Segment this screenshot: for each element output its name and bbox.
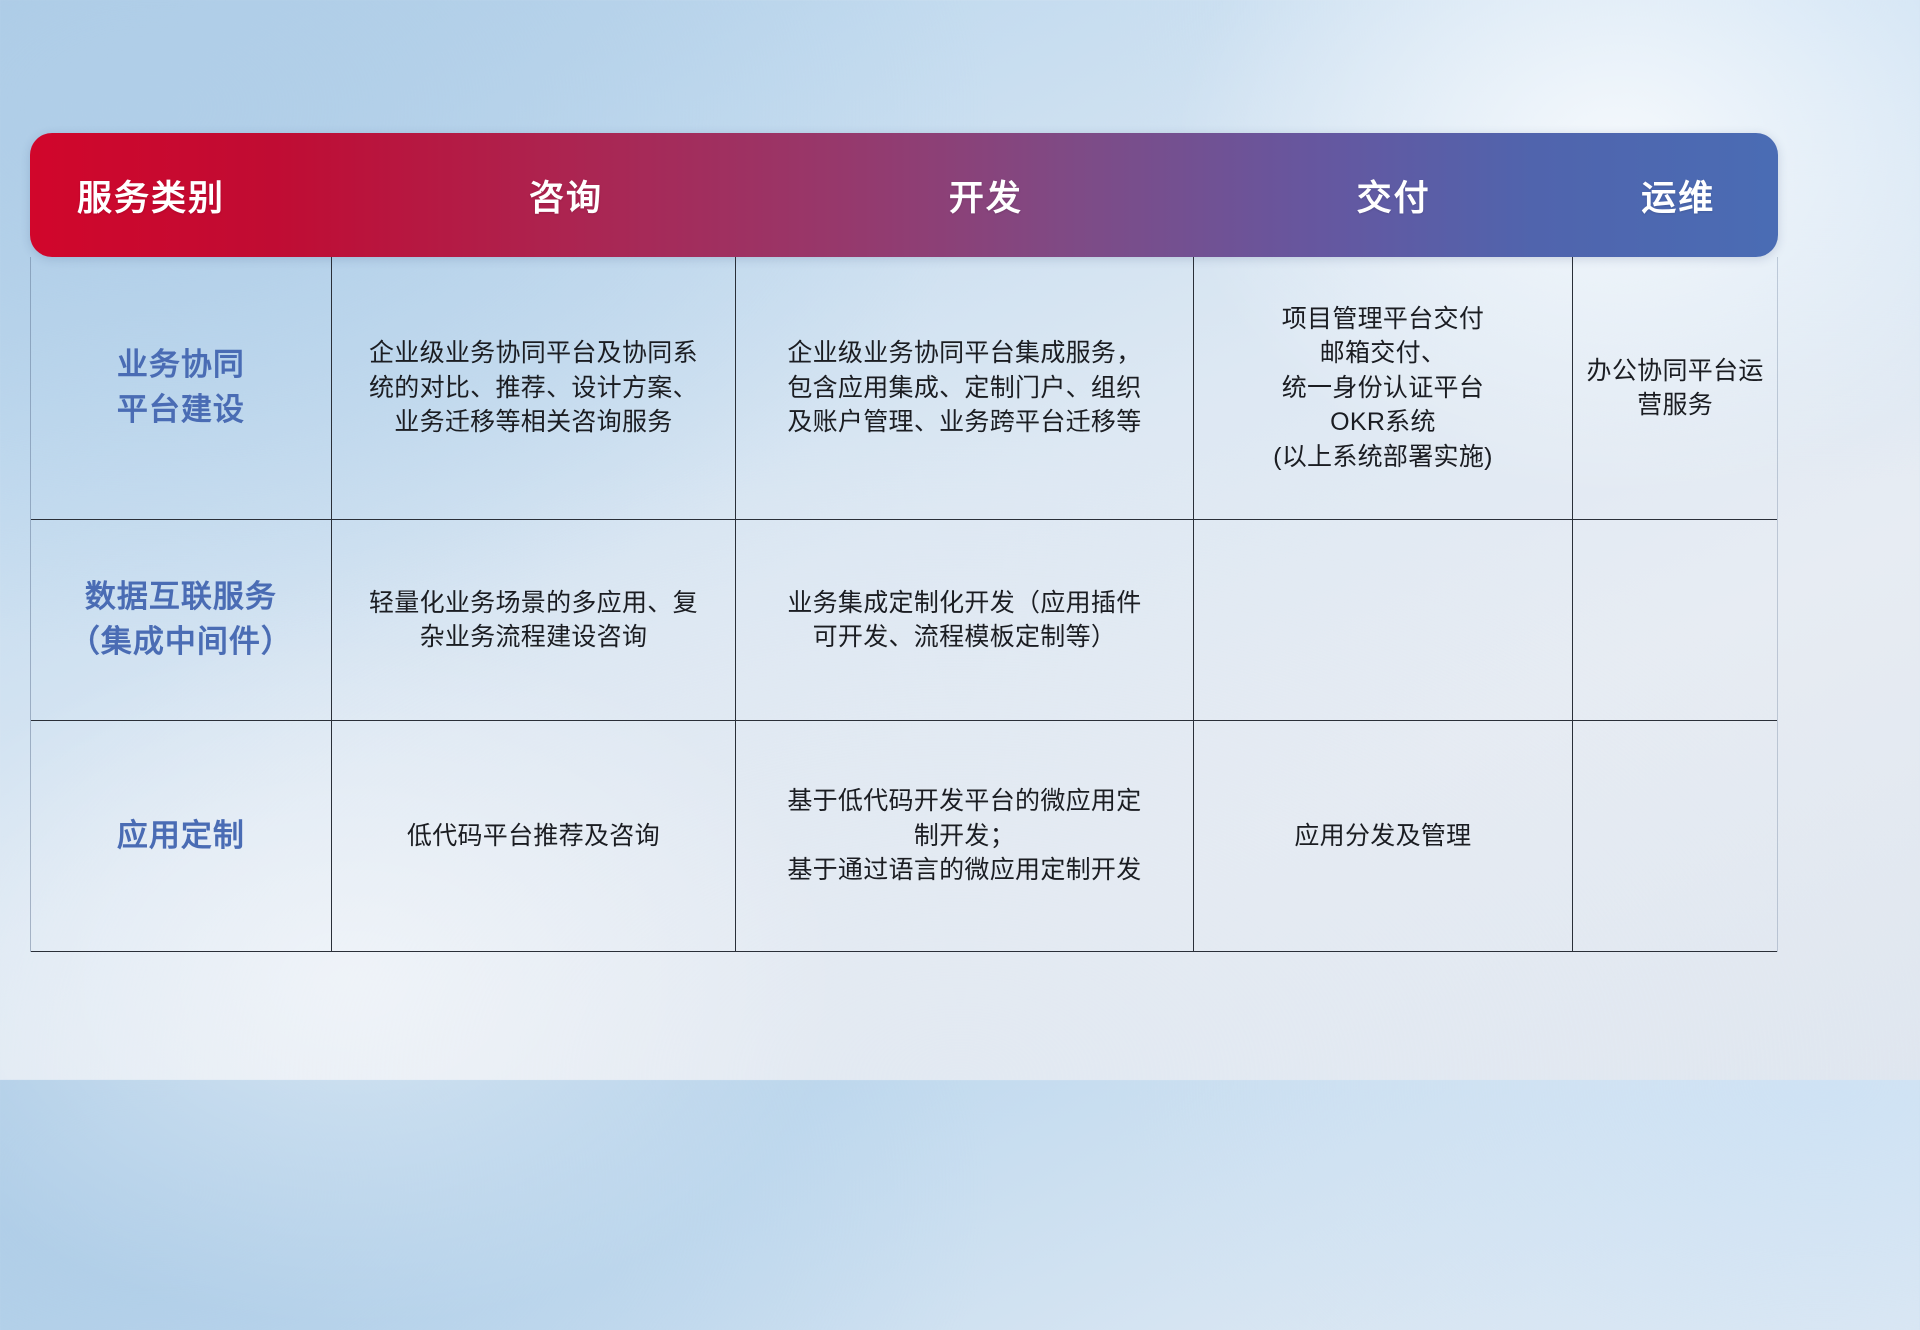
row-development-cell: 基于低代码开发平台的微应用定 制开发； 基于通过语言的微应用定制开发	[735, 721, 1192, 951]
row-development-cell: 业务集成定制化开发（应用插件 可开发、流程模板定制等）	[735, 520, 1192, 720]
row-delivery-cell	[1193, 520, 1573, 720]
cell-text: 数据互联服务 （集成中间件）	[69, 575, 293, 665]
row-delivery-cell: 项目管理平台交付 邮箱交付、 统一身份认证平台 OKR系统 (以上系统部署实施)	[1193, 257, 1573, 519]
row-category-cell: 数据互联服务 （集成中间件）	[31, 520, 331, 720]
cell-text: 企业级业务协同平台集成服务， 包含应用集成、定制门户、组织 及账户管理、业务跨平…	[787, 336, 1141, 440]
table-header-row: 服务类别 咨询 开发 交付 运维	[30, 133, 1778, 257]
row-operations-cell	[1572, 520, 1777, 720]
header-label-operations: 运维	[1641, 170, 1715, 221]
cell-text: 业务协同 平台建设	[117, 343, 245, 433]
cell-text: 应用定制	[117, 814, 245, 859]
cell-text: 基于低代码开发平台的微应用定 制开发； 基于通过语言的微应用定制开发	[787, 784, 1141, 888]
row-operations-cell	[1572, 721, 1777, 951]
table-body: 业务协同 平台建设 企业级业务协同平台及协同系 统的对比、推荐、设计方案、 业务…	[30, 257, 1778, 952]
cell-text: 应用分发及管理	[1294, 819, 1471, 854]
table-row: 数据互联服务 （集成中间件） 轻量化业务场景的多应用、复 杂业务流程建设咨询 业…	[31, 520, 1777, 721]
table-header-cell-operations: 运维	[1579, 133, 1778, 257]
cell-text: 企业级业务协同平台及协同系 统的对比、推荐、设计方案、 业务迁移等相关咨询服务	[369, 336, 698, 440]
row-consulting-cell: 轻量化业务场景的多应用、复 杂业务流程建设咨询	[331, 520, 736, 720]
cell-text: 办公协同平台运营服务	[1585, 354, 1765, 423]
slide-canvas: 服务类别 咨询 开发 交付 运维 业务协同 平台建设 企业级业务协同平台及协同	[0, 0, 1920, 1080]
header-label-delivery: 交付	[1357, 170, 1431, 221]
table-header-cell-consulting: 咨询	[369, 133, 763, 257]
service-matrix-table: 服务类别 咨询 开发 交付 运维 业务协同 平台建设 企业级业务协同平台及协同	[30, 133, 1778, 953]
table-row: 应用定制 低代码平台推荐及咨询 基于低代码开发平台的微应用定 制开发； 基于通过…	[31, 721, 1777, 952]
row-consulting-cell: 低代码平台推荐及咨询	[331, 721, 736, 951]
cell-text: 项目管理平台交付 邮箱交付、 统一身份认证平台 OKR系统 (以上系统部署实施)	[1273, 302, 1493, 475]
table-row: 业务协同 平台建设 企业级业务协同平台及协同系 统的对比、推荐、设计方案、 业务…	[31, 257, 1777, 520]
cell-text: 业务集成定制化开发（应用插件 可开发、流程模板定制等）	[787, 586, 1141, 655]
cell-text: 低代码平台推荐及咨询	[407, 819, 660, 854]
row-consulting-cell: 企业级业务协同平台及协同系 统的对比、推荐、设计方案、 业务迁移等相关咨询服务	[331, 257, 736, 519]
cell-text: 轻量化业务场景的多应用、复 杂业务流程建设咨询	[369, 586, 698, 655]
row-category-cell: 业务协同 平台建设	[31, 257, 331, 519]
table-header-cell-category: 服务类别	[30, 133, 369, 257]
row-category-cell: 应用定制	[31, 721, 331, 951]
header-label-category: 服务类别	[77, 170, 225, 221]
table-header-cell-development: 开发	[763, 133, 1209, 257]
table-header-cell-delivery: 交付	[1209, 133, 1579, 257]
header-label-consulting: 咨询	[529, 170, 603, 221]
row-development-cell: 企业级业务协同平台集成服务， 包含应用集成、定制门户、组织 及账户管理、业务跨平…	[735, 257, 1192, 519]
row-operations-cell: 办公协同平台运营服务	[1572, 257, 1777, 519]
header-label-development: 开发	[949, 170, 1023, 221]
row-delivery-cell: 应用分发及管理	[1193, 721, 1573, 951]
